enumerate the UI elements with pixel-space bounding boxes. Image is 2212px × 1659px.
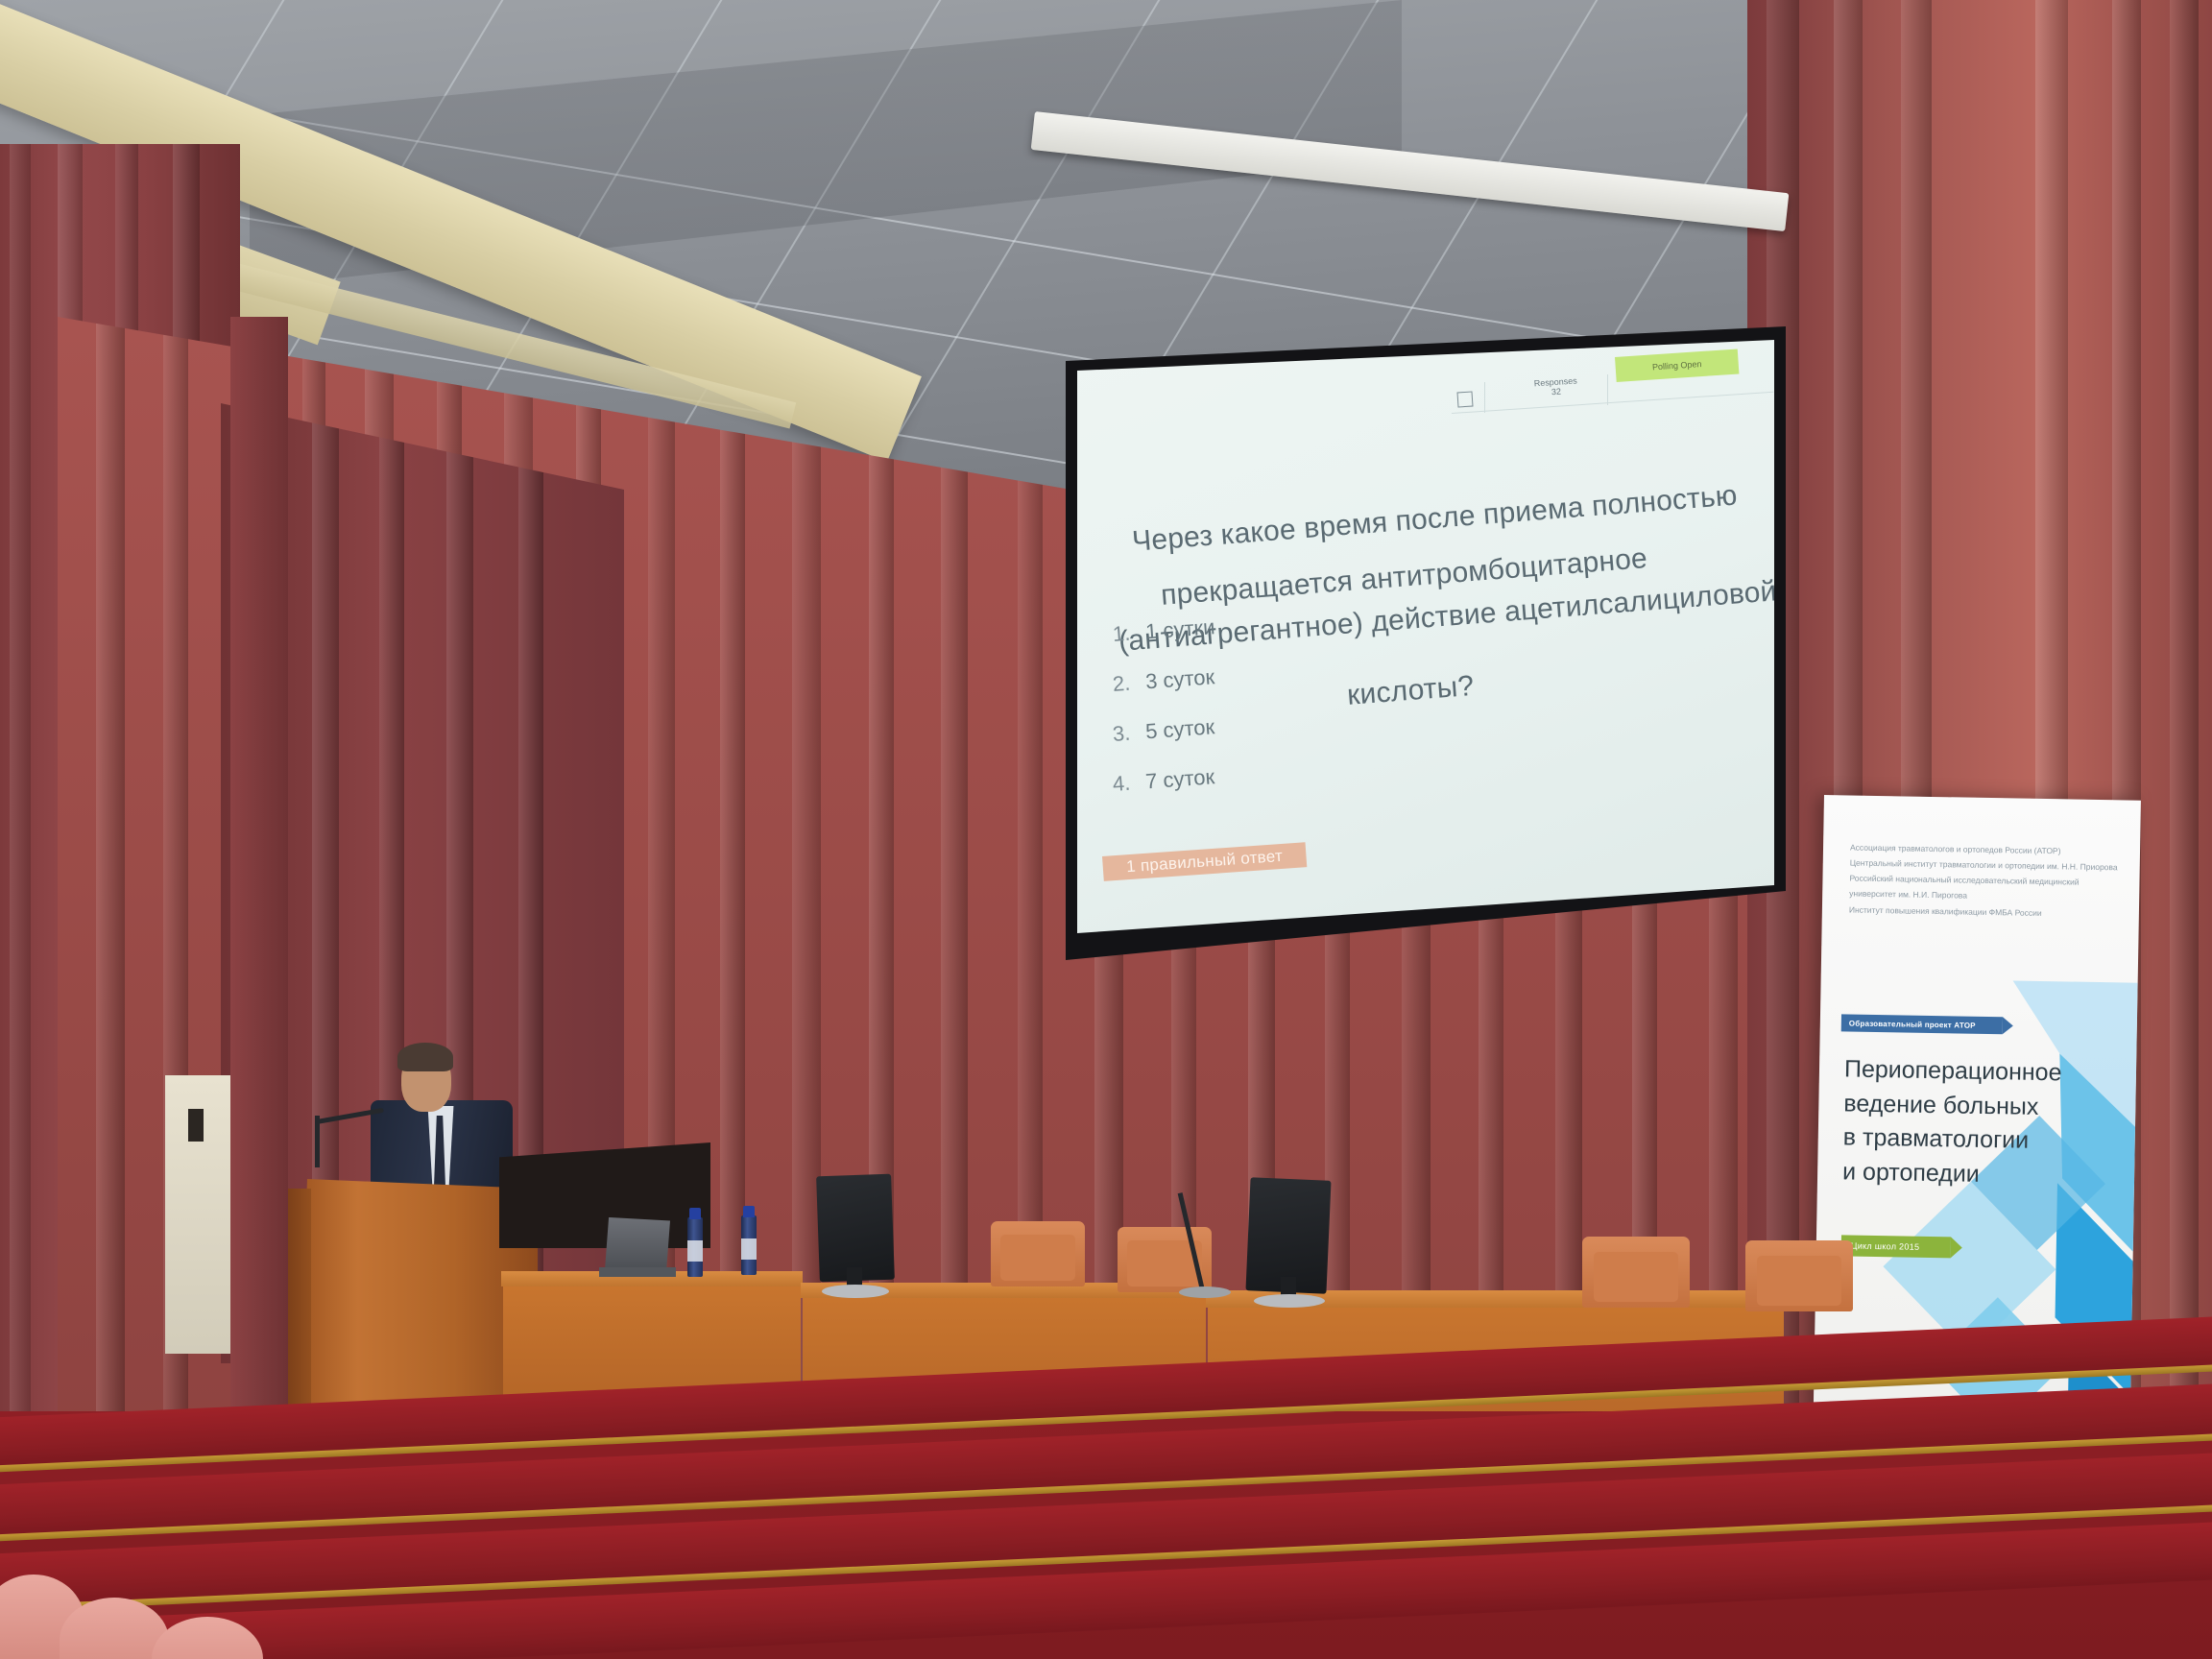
slide-question-line-4: кислоты? [1346, 670, 1476, 712]
slide-option-3-number: 3. [1112, 721, 1131, 747]
banner-project-tag-label: Образовательный проект АТОР [1849, 1019, 1976, 1029]
presenter-hair [397, 1043, 453, 1071]
slide-option-1-text: 1 сутки [1144, 614, 1215, 644]
banner-title-line-3: в травматологии [1842, 1120, 2131, 1160]
water-bottle-1-label [687, 1240, 703, 1262]
projection-screen-surface: Responses 32 Polling Open Через какое вр… [1077, 338, 1774, 949]
water-bottle-2-cap [743, 1206, 755, 1217]
presidium-chair-1-pad [1000, 1235, 1075, 1281]
slide-option-4-number: 4. [1112, 771, 1131, 797]
laptop[interactable] [605, 1217, 670, 1273]
ppt-polling-open-tab[interactable]: Polling Open [1615, 349, 1739, 382]
presidium-monitor-1 [816, 1174, 895, 1283]
slide-answer-hint-bar: 1 правильный ответ [1102, 842, 1307, 881]
slide-option-3-text: 5 суток [1144, 714, 1215, 744]
presidium-monitor-2-base [1254, 1294, 1325, 1308]
lectern-side [288, 1189, 311, 1419]
presidium-chair-3-pad [1594, 1252, 1678, 1302]
ppt-responses-tab[interactable]: Responses 32 [1511, 374, 1600, 399]
banner-project-tag: Образовательный проект АТОР [1841, 1014, 2003, 1034]
curtain-left-inner [230, 317, 288, 1450]
slide-option-3[interactable]: 3. 5 суток [1112, 714, 1215, 747]
banner-organizations: Ассоциация травматологов и ортопедов Рос… [1849, 839, 2138, 922]
ppt-slide-icon[interactable] [1456, 391, 1473, 407]
slide-option-2-number: 2. [1112, 671, 1131, 697]
slide-option-4-text: 7 суток [1144, 764, 1215, 794]
banner-year-label: Цикл школ 2015 [1851, 1241, 1920, 1252]
lectern-microphone-stem [315, 1116, 320, 1167]
slide-option-2-text: 3 суток [1144, 664, 1215, 694]
presidium-chair-4-pad [1757, 1256, 1841, 1306]
slide-question-line-1: Через какое время после приема полностью [1131, 480, 1739, 559]
laptop-base [599, 1267, 676, 1277]
ppt-ribbon-rule [1452, 392, 1773, 414]
ppt-ribbon-divider-1 [1484, 382, 1485, 413]
slide-option-2[interactable]: 2. 3 суток [1112, 664, 1215, 697]
conference-hall-photo: Responses 32 Polling Open Через какое вр… [0, 0, 2212, 1659]
presidium-monitor-1-base [822, 1285, 889, 1298]
banner-year-ribbon: Цикл школ 2015 [1841, 1235, 1951, 1258]
cabinet-handle [188, 1109, 204, 1142]
slide-answer-hint-label: 1 правильный ответ [1126, 847, 1284, 877]
banner-title-line-4: и ортопедии [1842, 1155, 2131, 1194]
banner-title: Периоперационное ведение больных в травм… [1842, 1052, 2132, 1193]
slide-option-1-number: 1. [1112, 621, 1131, 647]
banner-title-line-2: ведение больных [1843, 1087, 2132, 1126]
presidium-microphone-base [1179, 1286, 1231, 1298]
ppt-ribbon-divider-2 [1607, 374, 1608, 405]
ppt-polling-open-label: Polling Open [1652, 359, 1702, 372]
stage-equipment-dark [499, 1142, 710, 1248]
banner-title-line-1: Периоперационное [1844, 1052, 2133, 1092]
water-bottle-2-label [741, 1238, 757, 1260]
water-bottle-1-cap [689, 1208, 701, 1219]
slide-option-4[interactable]: 4. 7 суток [1112, 764, 1215, 797]
